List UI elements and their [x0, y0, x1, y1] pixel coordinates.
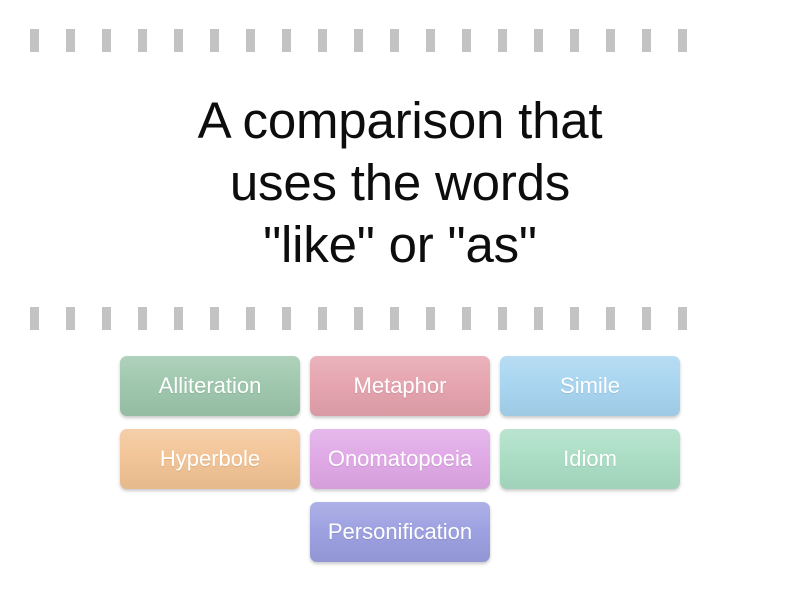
- dash-mark: [138, 29, 147, 52]
- dash-mark: [498, 307, 507, 330]
- dash-mark: [678, 29, 687, 52]
- dash-mark: [606, 307, 615, 330]
- dash-mark: [210, 29, 219, 52]
- dash-mark: [498, 29, 507, 52]
- dash-mark: [642, 307, 651, 330]
- dash-mark: [30, 307, 39, 330]
- prompt-area: A comparison that uses the words "like" …: [40, 70, 760, 295]
- answer-option-simile[interactable]: Simile: [500, 356, 680, 416]
- dash-mark: [66, 29, 75, 52]
- quiz-card: A comparison that uses the words "like" …: [0, 0, 800, 600]
- dash-mark: [678, 307, 687, 330]
- answer-option-label: Simile: [560, 373, 620, 399]
- dash-mark: [30, 29, 39, 52]
- answer-option-label: Hyperbole: [160, 446, 260, 472]
- dash-mark: [138, 307, 147, 330]
- dash-mark: [174, 29, 183, 52]
- dash-mark: [462, 307, 471, 330]
- dash-mark: [642, 29, 651, 52]
- answer-option-hyperbole[interactable]: Hyperbole: [120, 429, 300, 489]
- dash-mark: [66, 307, 75, 330]
- dash-mark: [246, 307, 255, 330]
- answer-option-label: Alliteration: [159, 373, 262, 399]
- answer-option-personification[interactable]: Personification: [310, 502, 490, 562]
- answer-row: HyperboleOnomatopoeiaIdiom: [115, 429, 685, 489]
- dash-mark: [246, 29, 255, 52]
- dashed-rule-top: [0, 29, 800, 52]
- dash-mark: [390, 29, 399, 52]
- answer-option-onomatopoeia[interactable]: Onomatopoeia: [310, 429, 490, 489]
- answer-option-label: Onomatopoeia: [328, 446, 472, 472]
- dash-mark: [534, 307, 543, 330]
- dash-mark: [318, 307, 327, 330]
- dash-mark: [354, 307, 363, 330]
- answer-row: Personification: [305, 502, 495, 562]
- dash-mark: [318, 29, 327, 52]
- dash-mark: [174, 307, 183, 330]
- dashed-rule-middle: [0, 307, 800, 330]
- dash-mark: [102, 307, 111, 330]
- dash-mark: [426, 307, 435, 330]
- dash-mark: [282, 307, 291, 330]
- dash-mark: [210, 307, 219, 330]
- answer-option-metaphor[interactable]: Metaphor: [310, 356, 490, 416]
- dash-mark: [390, 307, 399, 330]
- dash-mark: [606, 29, 615, 52]
- dash-mark: [462, 29, 471, 52]
- answer-option-label: Personification: [328, 519, 472, 545]
- answer-option-idiom[interactable]: Idiom: [500, 429, 680, 489]
- dash-mark: [426, 29, 435, 52]
- dash-mark: [570, 29, 579, 52]
- dash-mark: [282, 29, 291, 52]
- answer-option-label: Metaphor: [354, 373, 447, 399]
- dash-mark: [354, 29, 363, 52]
- answer-option-label: Idiom: [563, 446, 617, 472]
- answer-options-grid: AlliterationMetaphorSimileHyperboleOnoma…: [0, 356, 800, 575]
- dash-mark: [570, 307, 579, 330]
- dash-mark: [534, 29, 543, 52]
- page-title: A comparison that uses the words "like" …: [198, 90, 603, 276]
- dash-mark: [102, 29, 111, 52]
- answer-row: AlliterationMetaphorSimile: [115, 356, 685, 416]
- answer-option-alliteration[interactable]: Alliteration: [120, 356, 300, 416]
